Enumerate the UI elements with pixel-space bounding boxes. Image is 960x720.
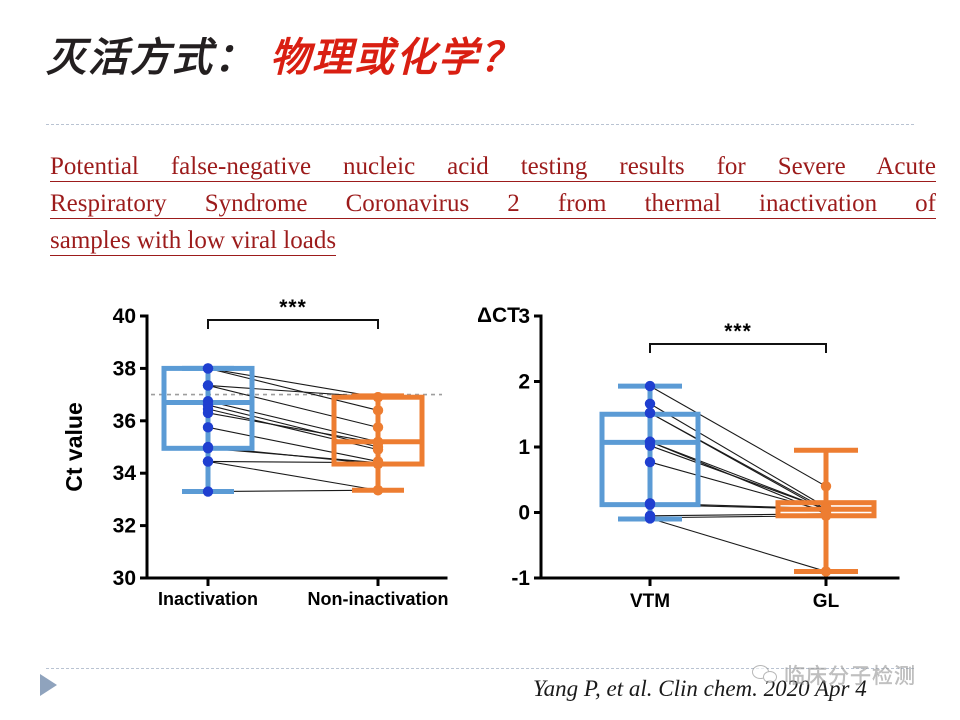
paper-title-line-3: samples with low viral loads [50,227,336,256]
page-title-black-part: 灭活方式： [46,35,256,81]
chart-ct-value-canvas: 303234363840Ct value***InactivationNon-i… [58,288,458,613]
svg-text:ΔCT: ΔCT [478,304,520,327]
paper-title-line-2: Respiratory Syndrome Coronavirus 2 from … [50,190,936,219]
chart-ct-value: 303234363840Ct value***InactivationNon-i… [58,288,458,613]
svg-text:38: 38 [113,357,137,380]
svg-text:1: 1 [518,436,530,459]
page-title-red-part: 物理或化学？ [270,35,522,81]
divider-top [46,124,914,125]
paper-title: Potential false-negative nucleic acid te… [50,148,936,259]
svg-text:VTM: VTM [630,591,670,612]
svg-text:-1: -1 [511,567,530,590]
play-triangle-icon[interactable] [40,674,57,696]
chart-delta-ct: -10123ΔCT***VTMGL n/clinchem/advance-art… [478,288,918,613]
svg-text:***: *** [724,320,752,343]
chart-delta-ct-canvas: -10123ΔCT***VTMGL [478,288,918,613]
svg-text:GL: GL [813,591,840,612]
page-title: 灭活方式：物理或化学？ [46,24,906,92]
paper-title-line-1: Potential false-negative nucleic acid te… [50,153,936,182]
svg-text:32: 32 [113,515,136,538]
svg-text:30: 30 [113,567,136,590]
svg-text:2: 2 [518,371,530,394]
svg-text:Ct value: Ct value [61,402,87,491]
svg-text:Inactivation: Inactivation [158,589,258,609]
svg-text:***: *** [279,296,307,319]
wechat-logo-icon [752,664,778,686]
svg-text:36: 36 [113,410,136,433]
svg-text:Non-inactivation: Non-inactivation [307,589,448,609]
svg-text:34: 34 [113,462,137,485]
svg-text:3: 3 [518,305,530,328]
svg-text:40: 40 [113,305,136,328]
wechat-watermark-label: 临床分子检测 [784,660,916,690]
wechat-watermark: 临床分子检测 [752,660,916,690]
svg-text:0: 0 [518,502,530,525]
